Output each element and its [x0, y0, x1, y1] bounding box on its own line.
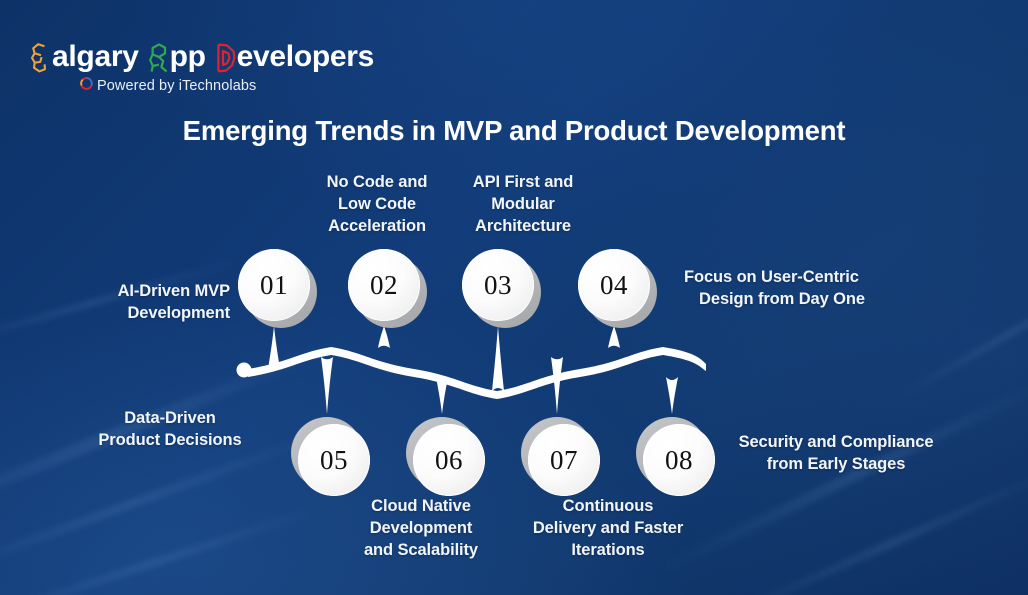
- label-line: API First and: [443, 171, 603, 193]
- label-line: Iterations: [511, 539, 705, 561]
- path-start-dot: [237, 363, 252, 378]
- node-label-05: Data-Driven Product Decisions: [72, 407, 268, 451]
- label-line: Cloud Native: [341, 495, 501, 517]
- label-line: Low Code: [297, 193, 457, 215]
- node-label-04: Focus on User-Centric Design from Day On…: [684, 266, 914, 310]
- label-line: and Scalability: [341, 539, 501, 561]
- node-label-07: Continuous Delivery and Faster Iteration…: [511, 495, 705, 561]
- label-line: Modular: [443, 193, 603, 215]
- node-label-01: AI-Driven MVP Development: [58, 280, 230, 324]
- diagram-node-08[interactable]: 08: [636, 417, 722, 503]
- node-number-04: 04: [600, 270, 628, 301]
- trends-diagram: 01 02 03 04 05: [0, 0, 1028, 595]
- node-disc[interactable]: 08: [643, 424, 715, 496]
- diagram-node-05[interactable]: 05: [291, 417, 377, 503]
- label-line: Development: [58, 302, 230, 324]
- label-line: from Early Stages: [726, 453, 946, 475]
- label-line: Data-Driven: [72, 407, 268, 429]
- label-line: Product Decisions: [72, 429, 268, 451]
- node-number-08: 08: [665, 445, 693, 476]
- label-line: Acceleration: [297, 215, 457, 237]
- node-disc[interactable]: 02: [348, 249, 420, 321]
- infographic-canvas: algary pp: [0, 0, 1028, 595]
- node-disc[interactable]: 01: [238, 249, 310, 321]
- node-disc[interactable]: 03: [462, 249, 534, 321]
- node-label-08: Security and Compliance from Early Stage…: [726, 431, 946, 475]
- diagram-node-04[interactable]: 04: [578, 249, 664, 335]
- label-line: No Code and: [297, 171, 457, 193]
- diagram-node-06[interactable]: 06: [406, 417, 492, 503]
- label-line: Focus on User-Centric: [684, 266, 914, 288]
- node-number-03: 03: [484, 270, 512, 301]
- node-number-01: 01: [260, 270, 288, 301]
- label-line: Design from Day One: [684, 288, 880, 310]
- node-disc[interactable]: 05: [298, 424, 370, 496]
- node-number-07: 07: [550, 445, 578, 476]
- label-line: Delivery and Faster: [511, 517, 705, 539]
- node-disc[interactable]: 06: [413, 424, 485, 496]
- node-number-06: 06: [435, 445, 463, 476]
- node-label-02: No Code and Low Code Acceleration: [297, 171, 457, 237]
- node-label-06: Cloud Native Development and Scalability: [341, 495, 501, 561]
- diagram-node-07[interactable]: 07: [521, 417, 607, 503]
- node-number-05: 05: [320, 445, 348, 476]
- node-label-03: API First and Modular Architecture: [443, 171, 603, 237]
- label-line: AI-Driven MVP: [58, 280, 230, 302]
- label-line: Continuous: [511, 495, 705, 517]
- label-line: Security and Compliance: [726, 431, 946, 453]
- diagram-node-02[interactable]: 02: [348, 249, 434, 335]
- node-disc[interactable]: 07: [528, 424, 600, 496]
- diagram-node-03[interactable]: 03: [462, 249, 548, 335]
- node-number-02: 02: [370, 270, 398, 301]
- node-disc[interactable]: 04: [578, 249, 650, 321]
- label-line: Development: [341, 517, 501, 539]
- diagram-node-01[interactable]: 01: [238, 249, 324, 335]
- label-line: Architecture: [443, 215, 603, 237]
